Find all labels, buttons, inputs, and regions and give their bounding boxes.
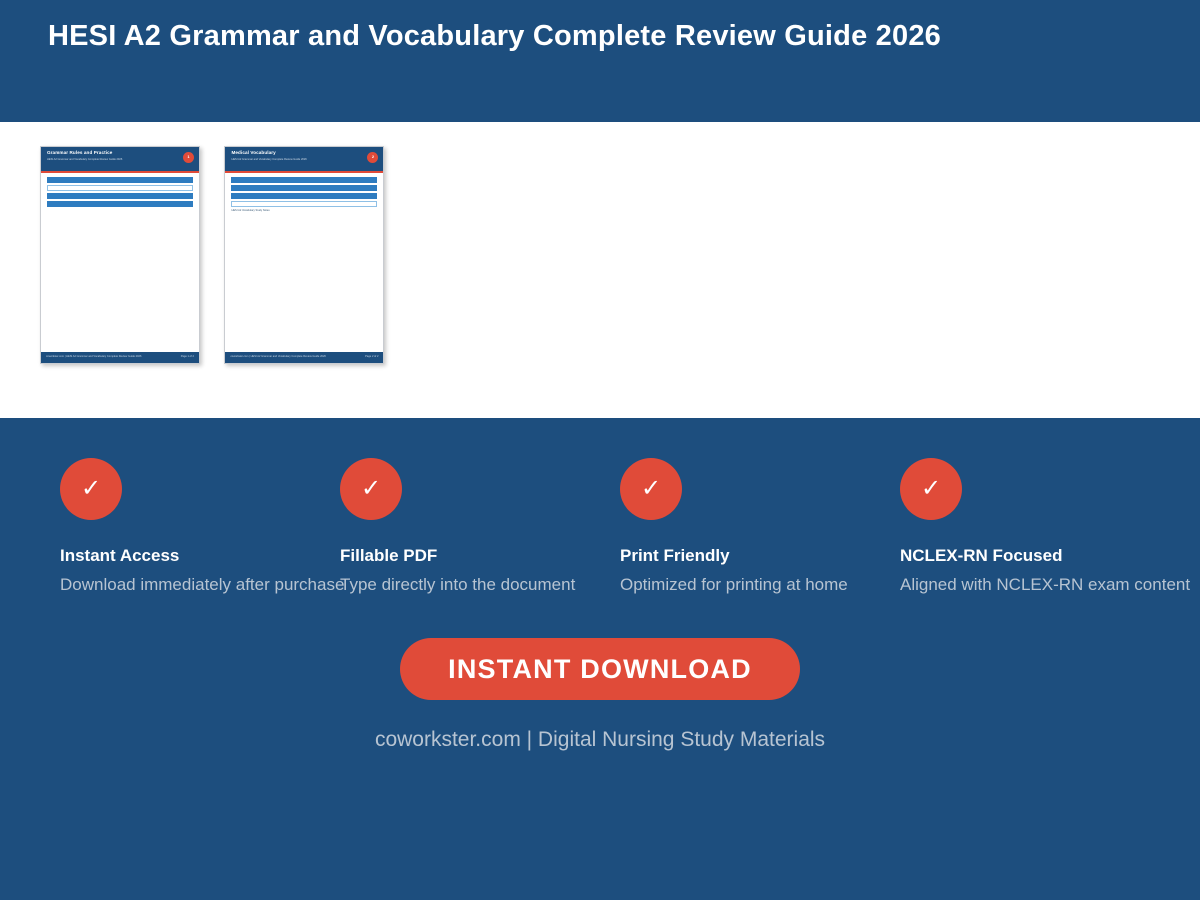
content-bar	[47, 201, 193, 207]
thumbnail-footer: coworkster.com | HESI A2 Grammar and Voc…	[41, 352, 199, 363]
thumbnail-note: HESI A2 Vocabulary Study Notes	[231, 209, 377, 212]
thumbnail-footer-attribution: coworkster.com | HESI A2 Grammar and Voc…	[230, 355, 325, 358]
checkmark-icon: ✓	[620, 458, 682, 520]
content-bar	[231, 185, 377, 191]
thumbnail-body	[41, 173, 199, 207]
document-preview-section: Grammar Rules and Practice HESI A2 Gramm…	[0, 122, 1200, 418]
feature-title: NCLEX-RN Focused	[900, 546, 1180, 566]
thumbnail-subtitle: HESI A2 Grammar and Vocabulary Complete …	[231, 158, 306, 161]
content-bar	[231, 177, 377, 183]
feature-instant-access: ✓ Instant Access Download immediately af…	[60, 458, 340, 595]
checkmark-glyph: ✓	[620, 458, 682, 520]
feature-title: Instant Access	[60, 546, 340, 566]
thumbnail-body: HESI A2 Vocabulary Study Notes	[225, 173, 383, 212]
document-thumbnail[interactable]: Grammar Rules and Practice HESI A2 Gramm…	[40, 146, 200, 364]
feature-fillable-pdf: ✓ Fillable PDF Type directly into the do…	[340, 458, 620, 595]
thumbnail-footer: coworkster.com | HESI A2 Grammar and Voc…	[225, 352, 383, 363]
page-number-badge-label: 1	[183, 154, 194, 159]
site-tagline: coworkster.com | Digital Nursing Study M…	[0, 728, 1200, 752]
page-number-badge: 1	[183, 152, 194, 163]
thumbnail-footer-page: Page 2 of 2	[365, 355, 378, 358]
page-header: HESI A2 Grammar and Vocabulary Complete …	[0, 0, 1200, 122]
thumbnail-subtitle: HESI A2 Grammar and Vocabulary Complete …	[47, 158, 122, 161]
page-title: HESI A2 Grammar and Vocabulary Complete …	[48, 20, 941, 53]
thumbnail-footer-page: Page 1 of 2	[181, 355, 194, 358]
checkmark-icon: ✓	[340, 458, 402, 520]
checkmark-icon: ✓	[900, 458, 962, 520]
content-bar	[47, 177, 193, 183]
instant-download-button[interactable]: INSTANT DOWNLOAD	[400, 638, 800, 700]
feature-description: Optimized for printing at home	[620, 575, 900, 595]
content-bar	[231, 193, 377, 199]
feature-description: Type directly into the document	[340, 575, 620, 595]
product-landing-page: HESI A2 Grammar and Vocabulary Complete …	[0, 0, 1200, 900]
document-thumbnail-list: Grammar Rules and Practice HESI A2 Gramm…	[40, 146, 404, 364]
page-number-badge: 2	[367, 152, 378, 163]
thumbnail-title: Grammar Rules and Practice	[47, 150, 112, 155]
content-bar-empty	[231, 201, 377, 207]
page-number-badge-label: 2	[367, 154, 378, 159]
document-thumbnail[interactable]: Medical Vocabulary HESI A2 Grammar and V…	[224, 146, 384, 364]
feature-nclex-focused: ✓ NCLEX-RN Focused Aligned with NCLEX-RN…	[900, 458, 1180, 595]
feature-description: Download immediately after purchase	[60, 575, 340, 595]
thumbnail-footer-attribution: coworkster.com | HESI A2 Grammar and Voc…	[46, 355, 141, 358]
checkmark-glyph: ✓	[900, 458, 962, 520]
feature-description: Aligned with NCLEX-RN exam content	[900, 575, 1180, 595]
thumbnail-header: Grammar Rules and Practice HESI A2 Gramm…	[41, 147, 199, 173]
feature-title: Fillable PDF	[340, 546, 620, 566]
thumbnail-header: Medical Vocabulary HESI A2 Grammar and V…	[225, 147, 383, 173]
content-bar-empty	[47, 185, 193, 191]
checkmark-glyph: ✓	[340, 458, 402, 520]
features-section: ✓ Instant Access Download immediately af…	[0, 418, 1200, 900]
checkmark-glyph: ✓	[60, 458, 122, 520]
content-bar	[47, 193, 193, 199]
feature-title: Print Friendly	[620, 546, 900, 566]
thumbnail-title: Medical Vocabulary	[231, 150, 275, 155]
checkmark-icon: ✓	[60, 458, 122, 520]
features-row: ✓ Instant Access Download immediately af…	[0, 458, 1200, 598]
feature-print-friendly: ✓ Print Friendly Optimized for printing …	[620, 458, 900, 595]
